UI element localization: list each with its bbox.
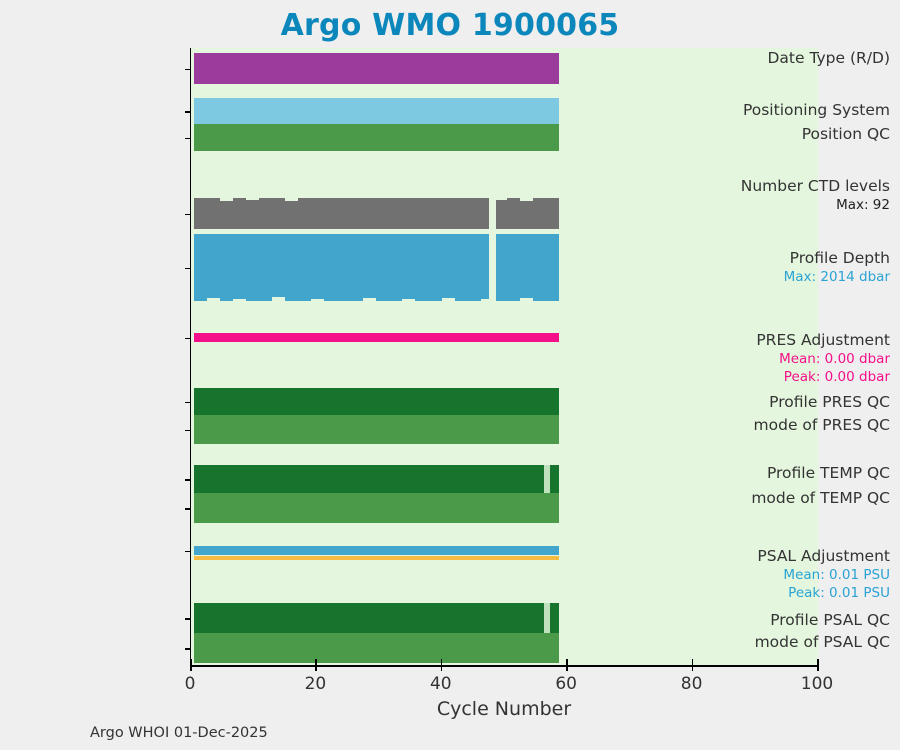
bar-gap-profile-depth-0 bbox=[489, 234, 495, 301]
x-axis-title: Cycle Number bbox=[190, 698, 818, 720]
x-tick-80 bbox=[692, 665, 694, 671]
y-label-mode-of-temp-qc: mode of TEMP QC bbox=[710, 488, 890, 508]
bar-mode-of-pres-qc bbox=[194, 415, 560, 444]
bar-notch-profile-depth-19 bbox=[442, 298, 455, 301]
y-label-group-profile-temp-qc: Profile TEMP QC bbox=[710, 463, 900, 483]
y-tick-pres-adjustment bbox=[185, 338, 190, 340]
y-label-profile-depth: Profile Depth bbox=[710, 248, 890, 268]
y-label-mode-of-psal-qc: mode of PSAL QC bbox=[710, 632, 890, 652]
x-tick-0 bbox=[190, 665, 192, 671]
y-label-position-qc: Position QC bbox=[710, 124, 890, 144]
y-sublabel-psal-adjustment-0: Mean: 0.01 PSU bbox=[710, 566, 890, 584]
y-label-profile-temp-qc: Profile TEMP QC bbox=[710, 463, 890, 483]
bar-notch-profile-depth-3 bbox=[233, 299, 246, 301]
bar-mode-of-temp-qc bbox=[194, 493, 560, 523]
bar-notch-profile-depth-22 bbox=[481, 299, 494, 301]
x-tick-inner-80 bbox=[692, 659, 694, 665]
bar-notch-number-ctd-levels-4 bbox=[246, 198, 259, 200]
bar-notch-profile-depth-25 bbox=[520, 298, 533, 301]
y-sublabel-pres-adjustment-1: Peak: 0.00 dbar bbox=[710, 368, 890, 386]
x-tick-inner-20 bbox=[315, 659, 317, 665]
y-label-profile-pres-qc: Profile PRES QC bbox=[710, 392, 890, 412]
bar-gap-number-ctd-levels-0 bbox=[489, 198, 495, 229]
y-label-group-number-ctd-levels: Number CTD levelsMax: 92 bbox=[710, 176, 900, 214]
y-tick-psal-adjustment bbox=[185, 551, 190, 553]
y-tick-mode-of-temp-qc bbox=[185, 508, 190, 510]
y-tick-profile-temp-qc bbox=[185, 479, 190, 481]
x-tick-inner-0 bbox=[190, 659, 192, 665]
y-tick-profile-depth bbox=[185, 268, 190, 270]
y-tick-mode-of-psal-qc bbox=[185, 648, 190, 650]
bar-profile-depth bbox=[194, 234, 560, 301]
y-label-mode-of-pres-qc: mode of PRES QC bbox=[710, 415, 890, 435]
bar-notch-number-ctd-levels-25 bbox=[520, 198, 533, 201]
y-tick-date-type bbox=[185, 69, 190, 71]
y-label-positioning-system: Positioning System bbox=[710, 100, 890, 120]
y-label-psal-adjustment: PSAL Adjustment bbox=[710, 546, 890, 566]
x-tick-inner-40 bbox=[441, 659, 443, 665]
bar-notch-profile-depth-9 bbox=[311, 299, 324, 301]
bar-notch-profile-depth-1 bbox=[207, 298, 220, 301]
bar-mode-of-psal-qc bbox=[194, 633, 560, 663]
y-label-group-position-qc: Position QC bbox=[710, 124, 900, 144]
x-tick-label-100: 100 bbox=[801, 674, 833, 694]
bar-profile-pres-qc bbox=[194, 388, 560, 415]
x-tick-label-20: 20 bbox=[305, 674, 327, 694]
x-tick-100 bbox=[817, 665, 819, 671]
bar-gap-profile-temp-qc-0 bbox=[544, 465, 550, 493]
bar-notch-profile-depth-6 bbox=[272, 297, 285, 301]
x-tick-60 bbox=[566, 665, 568, 671]
bar-notch-profile-depth-13 bbox=[363, 298, 376, 301]
y-label-group-profile-depth: Profile DepthMax: 2014 dbar bbox=[710, 248, 900, 286]
x-tick-20 bbox=[315, 665, 317, 671]
bar-gap-profile-psal-qc-0 bbox=[544, 603, 550, 633]
page-title: Argo WMO 1900065 bbox=[0, 8, 900, 43]
y-label-group-mode-of-pres-qc: mode of PRES QC bbox=[710, 415, 900, 435]
bar-notch-number-ctd-levels-7 bbox=[285, 198, 298, 201]
y-label-group-pres-adjustment: PRES AdjustmentMean: 0.00 dbarPeak: 0.00… bbox=[710, 330, 900, 386]
y-label-group-mode-of-psal-qc: mode of PSAL QC bbox=[710, 632, 900, 652]
y-sublabel-pres-adjustment-0: Mean: 0.00 dbar bbox=[710, 350, 890, 368]
y-tick-mode-of-pres-qc bbox=[185, 430, 190, 432]
bar-psal-adjustment bbox=[194, 546, 560, 555]
x-tick-label-40: 40 bbox=[430, 674, 452, 694]
y-tick-profile-psal-qc bbox=[185, 618, 190, 620]
bar-positioning-system bbox=[194, 98, 560, 124]
x-axis-line bbox=[190, 665, 819, 667]
bar-position-qc bbox=[194, 124, 560, 151]
y-label-profile-psal-qc: Profile PSAL QC bbox=[710, 610, 890, 630]
y-label-group-date-type: Date Type (R/D) bbox=[710, 48, 900, 68]
bar-psal-adjustment-secondary bbox=[194, 556, 560, 560]
bar-pres-adjustment bbox=[194, 333, 560, 342]
bar-date-type bbox=[194, 53, 560, 84]
footer-credit: Argo WHOI 01-Dec-2025 bbox=[90, 725, 268, 741]
y-label-group-profile-pres-qc: Profile PRES QC bbox=[710, 392, 900, 412]
y-label-date-type: Date Type (R/D) bbox=[710, 48, 890, 68]
y-tick-number-ctd-levels bbox=[185, 214, 190, 216]
y-label-group-positioning-system: Positioning System bbox=[710, 100, 900, 120]
y-label-group-profile-psal-qc: Profile PSAL QC bbox=[710, 610, 900, 630]
y-label-group-psal-adjustment: PSAL AdjustmentMean: 0.01 PSUPeak: 0.01 … bbox=[710, 546, 900, 602]
x-tick-label-60: 60 bbox=[555, 674, 577, 694]
y-sublabel-number-ctd-levels-0: Max: 92 bbox=[710, 196, 890, 214]
y-label-number-ctd-levels: Number CTD levels bbox=[710, 176, 890, 196]
y-sublabel-psal-adjustment-1: Peak: 0.01 PSU bbox=[710, 584, 890, 602]
y-tick-position-qc bbox=[185, 138, 190, 140]
bar-notch-profile-depth-16 bbox=[402, 299, 415, 301]
y-label-pres-adjustment: PRES Adjustment bbox=[710, 330, 890, 350]
y-tick-positioning-system bbox=[185, 111, 190, 113]
x-tick-label-80: 80 bbox=[681, 674, 703, 694]
x-tick-inner-100 bbox=[817, 659, 819, 665]
y-sublabel-profile-depth-0: Max: 2014 dbar bbox=[710, 268, 890, 286]
x-tick-label-0: 0 bbox=[185, 674, 196, 694]
x-tick-40 bbox=[441, 665, 443, 671]
bar-profile-psal-qc bbox=[194, 603, 560, 633]
y-tick-profile-pres-qc bbox=[185, 402, 190, 404]
y-label-group-mode-of-temp-qc: mode of TEMP QC bbox=[710, 488, 900, 508]
bar-notch-number-ctd-levels-2 bbox=[220, 198, 233, 201]
x-tick-inner-60 bbox=[566, 659, 568, 665]
bar-number-ctd-levels bbox=[194, 198, 560, 229]
bar-notch-number-ctd-levels-23 bbox=[494, 198, 507, 200]
bar-profile-temp-qc bbox=[194, 465, 560, 493]
